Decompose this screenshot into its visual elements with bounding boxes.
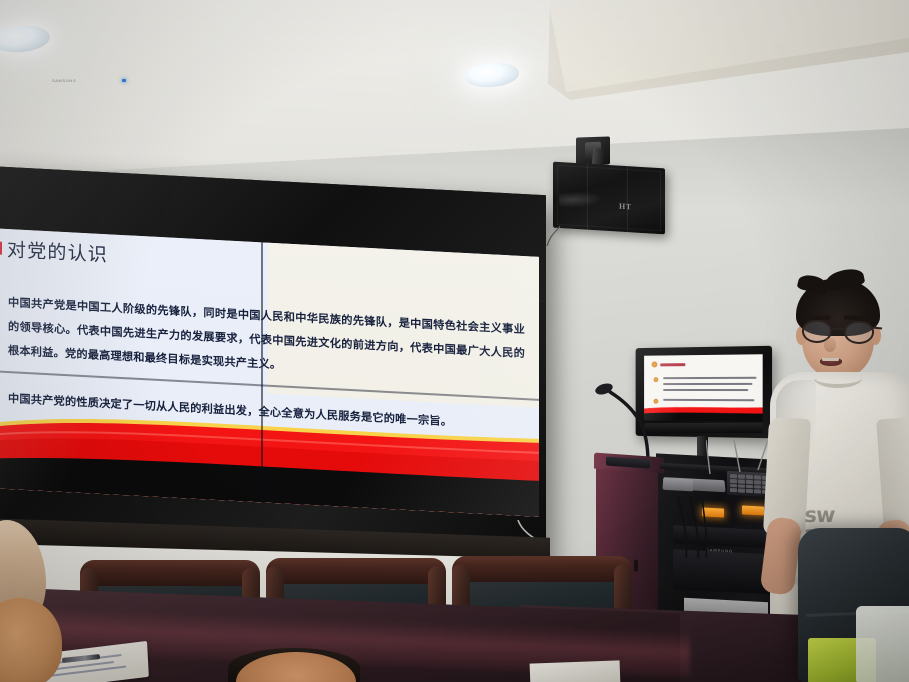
keypad-key[interactable] xyxy=(730,474,737,478)
glasses-bridge xyxy=(832,328,844,330)
monitor-brand-label: SAMSUNG xyxy=(52,78,76,83)
speaker-grill-seam xyxy=(627,166,628,232)
keypad-key[interactable] xyxy=(730,488,737,492)
video-wall-screen: 对党的认识 中国共产党是中国工人阶级的先锋队，同时是中国人民和中华民族的先锋队，… xyxy=(0,228,539,516)
keypad-key[interactable] xyxy=(746,489,753,493)
slide-title-row: 对党的认识 xyxy=(0,234,108,267)
monitor-slide-wave-graphic xyxy=(644,405,763,422)
speaker-cable xyxy=(546,226,562,246)
keypad-key[interactable] xyxy=(738,479,745,483)
presenter-tshirt-collar xyxy=(814,368,862,388)
monitor-slide-header xyxy=(652,361,686,367)
lectern-door-handle[interactable] xyxy=(634,559,638,571)
lectern-cables xyxy=(668,496,714,558)
keypad-key[interactable] xyxy=(754,485,761,489)
keypad-key[interactable] xyxy=(746,484,753,488)
speaker-highlight xyxy=(558,190,603,208)
monitor-text-line xyxy=(663,377,756,379)
keypad-key[interactable] xyxy=(754,475,761,479)
glasses-lens-right xyxy=(844,321,874,344)
slide-title: 对党的认识 xyxy=(7,235,108,267)
monitor-screen xyxy=(644,354,763,422)
monitor-chin xyxy=(644,423,763,433)
presenter-nose xyxy=(824,338,836,352)
presenter-glasses xyxy=(800,320,878,344)
chair-crest-rail xyxy=(266,558,446,584)
led-video-wall: 对党的认识 中国共产党是中国工人阶级的先锋队，同时是中国人民和中华民族的先锋队，… xyxy=(0,166,546,570)
monitor-power-led-icon xyxy=(122,79,126,82)
speaker-brand-label: HT xyxy=(619,202,632,212)
plastic-bag-item[interactable] xyxy=(856,606,909,682)
conference-room-photo: HT 对党的认识 中国共产党是中国工人阶级的先锋队，同时是中国人民和中华民族的先… xyxy=(0,0,909,682)
lectern-keyboard-left-half[interactable] xyxy=(663,478,694,491)
lectern-amber-indicator[interactable] xyxy=(742,505,764,515)
monitor-text-line xyxy=(663,383,752,385)
wall-speaker: HT xyxy=(553,162,665,235)
chair-crest-rail xyxy=(80,560,260,586)
keypad-key[interactable] xyxy=(754,480,761,484)
monitor-text-line xyxy=(663,389,748,391)
chair-crest-rail xyxy=(452,556,632,582)
keypad-key[interactable] xyxy=(754,489,761,493)
keypad-key[interactable] xyxy=(730,479,737,483)
keypad-key[interactable] xyxy=(738,484,745,488)
monitor-slide-badge-icon xyxy=(652,361,658,367)
slide-title-bullet-icon xyxy=(0,241,2,255)
keypad-key[interactable] xyxy=(738,489,745,493)
monitor-slide-title-bar xyxy=(660,363,685,366)
keypad-key[interactable] xyxy=(730,483,737,487)
monitor-text-line xyxy=(663,399,754,401)
table-paper-far xyxy=(530,660,621,682)
keypad-key[interactable] xyxy=(746,475,753,479)
keypad-key[interactable] xyxy=(738,474,745,478)
keypad-key[interactable] xyxy=(746,480,753,484)
presenter-hair-tuft xyxy=(797,273,830,296)
gooseneck-microphone[interactable] xyxy=(592,378,656,464)
presenter-teeth xyxy=(822,358,839,361)
presentation-slide: 对党的认识 中国共产党是中国工人阶级的先锋队，同时是中国人民和中华民族的先锋队，… xyxy=(0,228,539,516)
